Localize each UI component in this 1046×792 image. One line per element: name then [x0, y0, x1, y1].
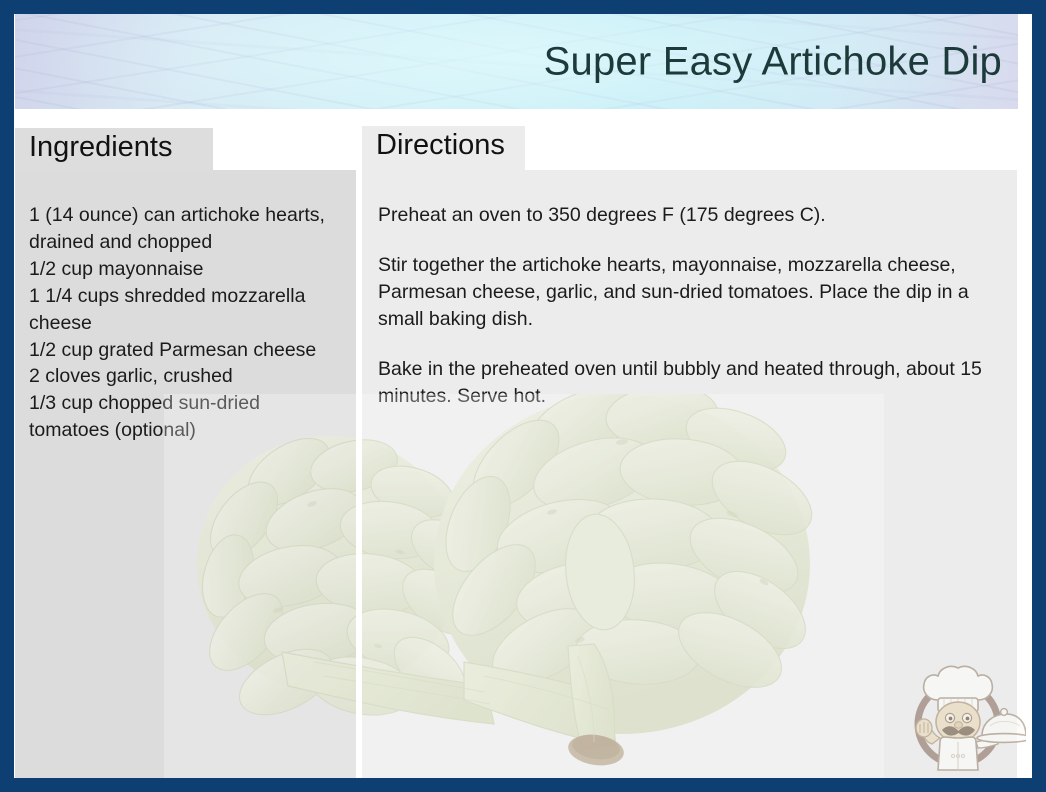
list-item: 1/2 cup grated Parmesan cheese: [29, 337, 344, 364]
list-item: tomatoes (optional): [29, 417, 344, 444]
list-item: 1 (14 ounce) can artichoke hearts,: [29, 202, 344, 229]
header-banner: Super Easy Artichoke Dip: [15, 14, 1018, 109]
tab-ingredients[interactable]: Ingredients: [15, 128, 213, 170]
ingredients-list: 1 (14 ounce) can artichoke hearts, drain…: [29, 202, 344, 444]
list-item: 1/2 cup mayonnaise: [29, 256, 344, 283]
chef-mascot-logo: [898, 652, 1026, 772]
card-canvas: Super Easy Artichoke Dip Ingredients 1 (…: [14, 14, 1032, 778]
recipe-card: Super Easy Artichoke Dip Ingredients 1 (…: [0, 0, 1046, 792]
list-item: 1 1/4 cups shredded mozzarella: [29, 283, 344, 310]
ingredients-panel: 1 (14 ounce) can artichoke hearts, drain…: [15, 170, 356, 778]
column-divider: [356, 170, 362, 778]
tab-directions[interactable]: Directions: [362, 126, 525, 170]
list-item: Stir together the artichoke hearts, mayo…: [378, 252, 997, 333]
directions-list: Preheat an oven to 350 degrees F (175 de…: [378, 202, 997, 409]
list-item: drained and chopped: [29, 229, 344, 256]
tab-ingredients-label: Ingredients: [29, 131, 173, 163]
list-item: 1/3 cup chopped sun-dried: [29, 390, 344, 417]
list-item: Bake in the preheated oven until bubbly …: [378, 356, 997, 410]
list-item: 2 cloves garlic, crushed: [29, 363, 344, 390]
page-title: Super Easy Artichoke Dip: [544, 39, 1002, 84]
tab-directions-label: Directions: [376, 129, 505, 161]
list-item: Preheat an oven to 350 degrees F (175 de…: [378, 202, 997, 229]
list-item: cheese: [29, 310, 344, 337]
